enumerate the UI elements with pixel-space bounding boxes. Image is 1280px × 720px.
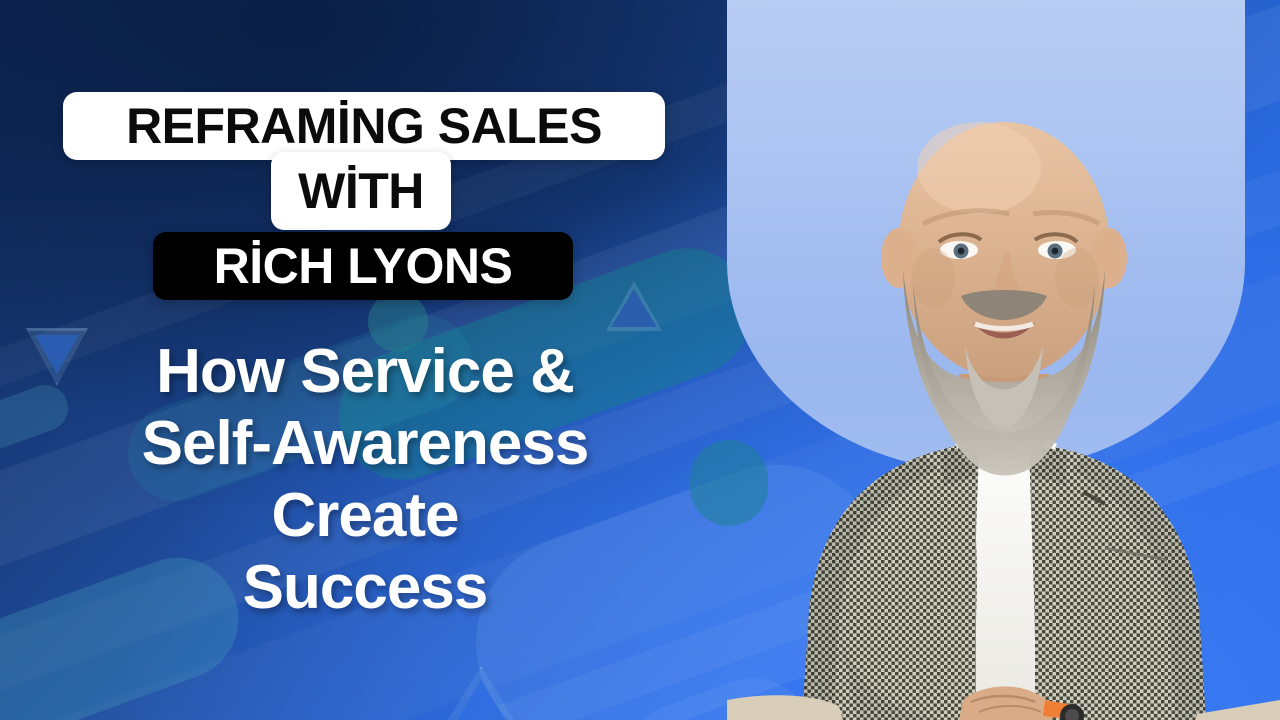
title-badge-line2: WİTH: [271, 152, 451, 230]
title-line1-text: REFRAMİNG SALES: [126, 101, 602, 151]
guest-name-badge: RİCH LYONS: [153, 232, 573, 300]
subtitle-line: Success: [20, 552, 710, 624]
subtitle-line: How Service &: [20, 336, 710, 408]
subtitle-line: Self-Awareness: [20, 408, 710, 480]
subtitle-line: Create: [20, 480, 710, 552]
thumbnail-canvas: REFRAMİNG SALES WİTH RİCH LYONS How Serv…: [0, 0, 1280, 720]
title-line2-text: WİTH: [298, 166, 424, 216]
guest-portrait: [727, 0, 1280, 720]
title-badge-line1: REFRAMİNG SALES: [63, 92, 665, 160]
episode-subtitle: How Service & Self-Awareness Create Succ…: [20, 336, 710, 624]
guest-name-text: RİCH LYONS: [214, 241, 513, 291]
